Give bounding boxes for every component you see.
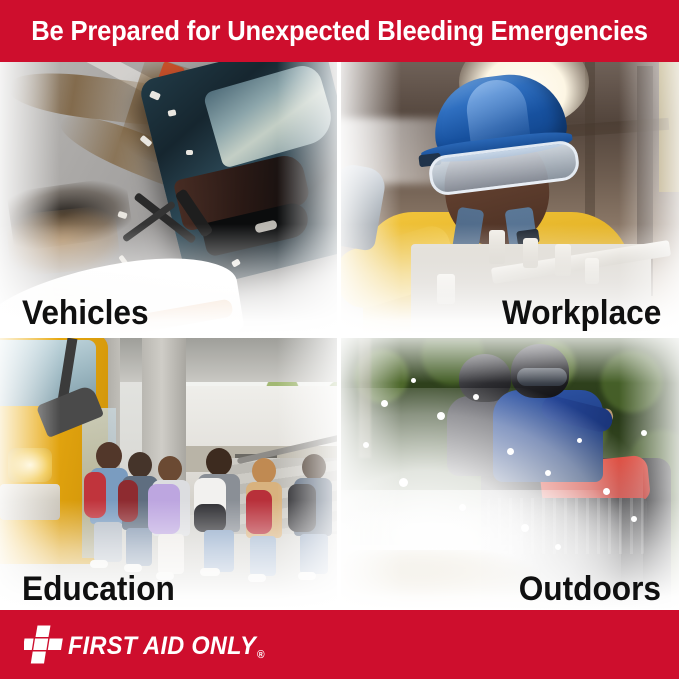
brand-wordmark-text: FIRST AID ONLY — [68, 632, 256, 660]
category-label-outdoors: Outdoors — [519, 572, 661, 606]
category-tile-education[interactable]: Education — [0, 338, 337, 610]
page-title: Be Prepared for Unexpected Bleeding Emer… — [31, 17, 648, 45]
first-aid-cross-icon — [24, 625, 64, 667]
poster: Be Prepared for Unexpected Bleeding Emer… — [0, 0, 679, 679]
category-tile-vehicles[interactable]: Vehicles — [0, 62, 337, 334]
category-label-vehicles: Vehicles — [22, 296, 149, 330]
category-grid: Vehicles — [0, 62, 679, 610]
category-tile-workplace[interactable]: Workplace — [341, 62, 679, 334]
category-label-education: Education — [22, 572, 175, 606]
category-tile-outdoors[interactable]: Outdoors — [341, 338, 679, 610]
registered-trademark-icon: ® — [257, 649, 265, 661]
brand-logo[interactable]: FIRST AID ONLY® — [24, 624, 276, 668]
category-label-workplace: Workplace — [502, 296, 661, 330]
brand-wordmark: FIRST AID ONLY® — [68, 634, 264, 659]
header-banner: Be Prepared for Unexpected Bleeding Emer… — [0, 0, 679, 62]
footer-banner: FIRST AID ONLY® — [0, 610, 679, 679]
